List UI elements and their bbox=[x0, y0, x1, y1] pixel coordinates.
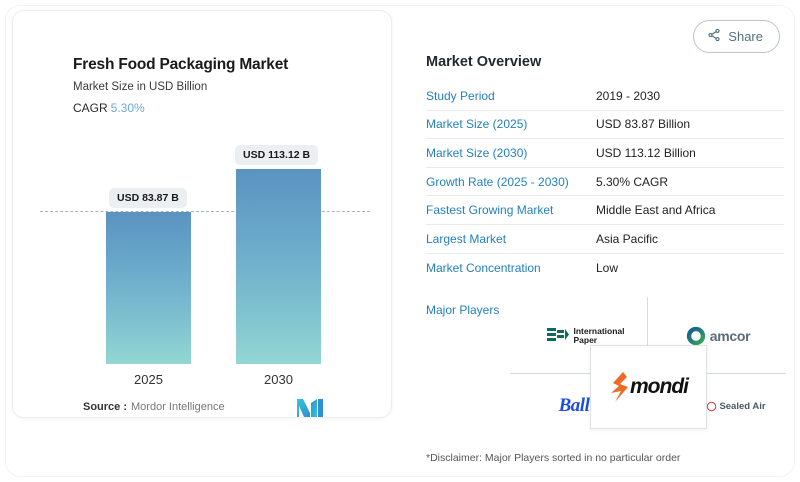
row-value: Asia Pacific bbox=[596, 232, 658, 246]
overview-title: Market Overview bbox=[426, 54, 541, 70]
source-label: Source : bbox=[83, 401, 127, 413]
source-row: Source :Mordor Intelligence bbox=[83, 401, 225, 413]
x-tick-2025: 2025 bbox=[106, 372, 191, 387]
table-row: Largest Market Asia Pacific bbox=[426, 225, 784, 254]
row-key: Market Size (2030) bbox=[426, 146, 596, 160]
overview-table: Study Period 2019 - 2030 Market Size (20… bbox=[426, 82, 784, 282]
table-row: Growth Rate (2025 - 2030) 5.30% CAGR bbox=[426, 168, 784, 197]
table-row: Market Size (2025) USD 83.87 Billion bbox=[426, 111, 784, 140]
row-key: Growth Rate (2025 - 2030) bbox=[426, 175, 596, 189]
row-value: Low bbox=[596, 261, 618, 275]
row-value: 5.30% CAGR bbox=[596, 175, 668, 189]
major-players-label: Major Players bbox=[426, 303, 499, 317]
bar-label-2025: USD 83.87 B bbox=[109, 188, 187, 208]
amcor-wordmark: amcor bbox=[710, 328, 751, 344]
table-row: Market Size (2030) USD 113.12 Billion bbox=[426, 139, 784, 168]
bar-label-2030: USD 113.12 B bbox=[235, 145, 318, 165]
market-overview-panel: Share Market Overview Study Period 2019 … bbox=[418, 10, 786, 470]
row-key: Study Period bbox=[426, 89, 596, 103]
share-button[interactable]: Share bbox=[693, 20, 780, 53]
table-row: Market Concentration Low bbox=[426, 254, 784, 283]
mondi-flame-mark bbox=[609, 372, 629, 402]
row-value: USD 113.12 Billion bbox=[596, 146, 696, 160]
row-value: 2019 - 2030 bbox=[596, 89, 660, 103]
mondi-wordmark: mondi bbox=[630, 375, 688, 399]
row-value: USD 83.87 Billion bbox=[596, 117, 690, 131]
screenshot-root: Fresh Food Packaging Market Market Size … bbox=[0, 0, 800, 482]
bar-2030[interactable] bbox=[236, 169, 321, 364]
sealed-air-mark bbox=[706, 401, 717, 412]
bar-chart-plot: USD 83.87 B USD 113.12 B 2025 2030 bbox=[13, 11, 393, 419]
source-value: Mordor Intelligence bbox=[131, 401, 225, 413]
international-paper-wordmark: International Paper bbox=[573, 327, 624, 346]
bar-2025[interactable] bbox=[106, 212, 191, 364]
chart-panel: Fresh Food Packaging Market Market Size … bbox=[12, 10, 392, 418]
row-key: Largest Market bbox=[426, 232, 596, 246]
mordor-intelligence-logo bbox=[297, 399, 323, 422]
row-key: Market Size (2025) bbox=[426, 117, 596, 131]
major-players-logo-grid: International Paper amcor bbox=[510, 297, 786, 429]
player-logo-sealed-air[interactable]: Sealed Air bbox=[688, 385, 784, 427]
international-paper-mark bbox=[547, 327, 569, 345]
row-key: Market Concentration bbox=[426, 261, 596, 275]
x-tick-2030: 2030 bbox=[236, 372, 321, 387]
table-row: Study Period 2019 - 2030 bbox=[426, 82, 784, 111]
disclaimer-text: *Disclaimer: Major Players sorted in no … bbox=[426, 452, 680, 464]
ball-wordmark: Ball bbox=[559, 395, 590, 417]
table-row: Fastest Growing Market Middle East and A… bbox=[426, 196, 784, 225]
share-button-label: Share bbox=[728, 29, 763, 44]
amcor-mark bbox=[686, 326, 706, 346]
sealed-air-wordmark: Sealed Air bbox=[719, 401, 765, 412]
share-nodes-icon bbox=[707, 28, 721, 45]
row-key: Fastest Growing Market bbox=[426, 203, 596, 217]
row-value: Middle East and Africa bbox=[596, 203, 715, 217]
